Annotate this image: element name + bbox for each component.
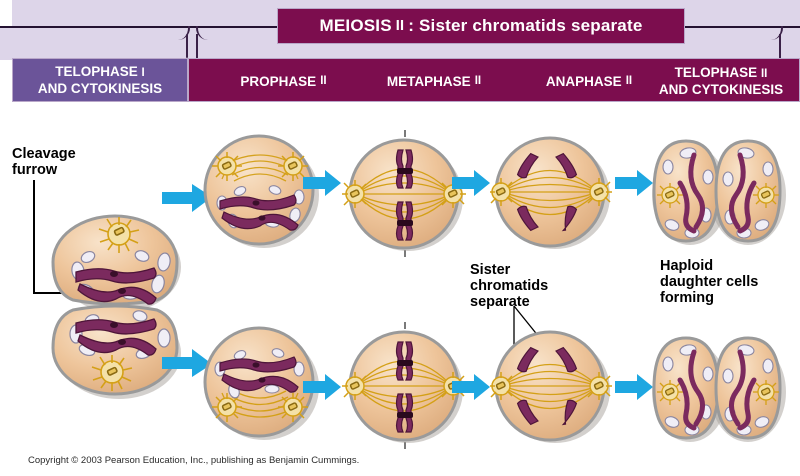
telophase-1-numeral: I xyxy=(142,67,145,79)
cell-metaphase-2-top xyxy=(340,128,470,263)
arrow-prophase2-to-metaphase2-top xyxy=(303,168,343,198)
haploid-daughter-cells-annotation: Haploid daughter cells forming xyxy=(660,258,800,306)
telophase-2-line2: AND CYTOKINESIS xyxy=(659,82,783,97)
telophase-2-numeral: II xyxy=(761,68,767,80)
stage-label-telophase-2[interactable]: TELOPHASE II AND CYTOKINESIS xyxy=(641,59,800,103)
cell-telophase-2-top xyxy=(650,133,790,253)
arrow-metaphase2-to-anaphase2-bottom xyxy=(452,372,492,402)
sister-chromatids-separate-annotation: Sister chromatids separate xyxy=(470,262,590,310)
haploid-line1: Haploid xyxy=(660,258,800,274)
cleavage-furrow-line2: furrow xyxy=(12,162,132,178)
sister-line1: Sister xyxy=(470,262,590,278)
banner-roman-numeral: II xyxy=(392,18,408,34)
bracket-stem-right xyxy=(196,34,198,58)
prophase-2-numeral: II xyxy=(316,74,326,89)
meiosis-ii-label-bar: PROPHASE II METAPHASE II ANAPHASE II TEL… xyxy=(188,58,800,102)
cleavage-furrow-annotation: Cleavage furrow xyxy=(12,146,132,178)
meiosis-ii-banner: MEIOSIS II : Sister chromatids separate xyxy=(277,8,685,44)
arrow-metaphase2-to-anaphase2-top xyxy=(452,168,492,198)
cell-anaphase-2-top xyxy=(490,133,615,255)
cell-metaphase-2-bottom xyxy=(340,320,470,455)
anaphase-2-numeral: II xyxy=(622,74,632,89)
metaphase-2-numeral: II xyxy=(471,74,481,89)
banner-main-text: MEIOSIS xyxy=(320,16,392,36)
bracket-stem-left xyxy=(186,34,188,58)
prophase-2-line1: PROPHASE xyxy=(240,74,316,89)
metaphase-2-line1: METAPHASE xyxy=(387,74,471,89)
anaphase-2-bottom-illustration xyxy=(490,327,615,449)
cell-telophase-2-bottom xyxy=(650,330,790,450)
cell-anaphase-2-bottom xyxy=(490,327,615,449)
metaphase-2-bottom-illustration xyxy=(340,320,470,455)
bracket-stem-far-right xyxy=(779,34,781,58)
metaphase-2-top-illustration xyxy=(340,128,470,263)
arrow-anaphase2-to-telophase2-bottom xyxy=(615,372,655,402)
telophase-2-line1: TELOPHASE xyxy=(675,65,758,80)
haploid-line2: daughter cells xyxy=(660,274,800,290)
figure-header: MEIOSIS II : Sister chromatids separate … xyxy=(0,0,800,110)
telophase-1-line1: TELOPHASE xyxy=(55,64,138,79)
banner-rest-text: : Sister chromatids separate xyxy=(408,16,642,36)
arrow-anaphase2-to-telophase2-top xyxy=(615,168,655,198)
haploid-line3: forming xyxy=(660,290,800,306)
telophase-2-bottom-illustration xyxy=(650,330,790,450)
anaphase-2-line1: ANAPHASE xyxy=(546,74,622,89)
copyright-notice: Copyright © 2003 Pearson Education, Inc.… xyxy=(28,455,359,466)
arrow-prophase2-to-metaphase2-bottom xyxy=(303,372,343,402)
telophase-2-top-illustration xyxy=(650,133,790,253)
telophase-1-line2: AND CYTOKINESIS xyxy=(38,81,162,96)
stage-label-telophase-1[interactable]: TELOPHASE I AND CYTOKINESIS xyxy=(12,58,188,102)
cleavage-furrow-leader-vertical xyxy=(33,180,35,293)
sister-line2: chromatids xyxy=(470,278,590,294)
cleavage-furrow-line1: Cleavage xyxy=(12,146,132,162)
anaphase-2-top-illustration xyxy=(490,133,615,255)
